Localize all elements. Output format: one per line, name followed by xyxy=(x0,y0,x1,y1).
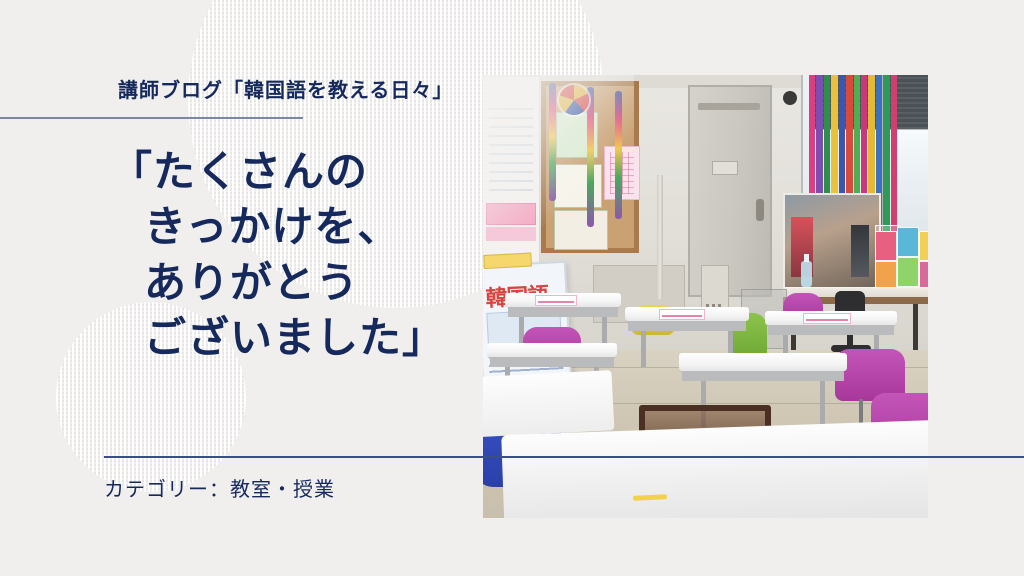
category-label: カテゴリー：教室・授業 xyxy=(104,473,335,502)
desk-top xyxy=(679,353,847,371)
travel-poster xyxy=(783,193,881,293)
sign-tab xyxy=(483,253,532,269)
blog-banner: 韓国語 xyxy=(0,0,1024,576)
door-handle xyxy=(756,199,764,221)
magazine xyxy=(897,227,919,257)
desk-leg xyxy=(820,381,825,427)
desk-leg xyxy=(641,331,646,367)
hand-sanitizer xyxy=(801,261,812,287)
norigae-tassel xyxy=(587,87,594,227)
korean-fan-ornament xyxy=(559,85,589,115)
poster-highlight xyxy=(486,227,536,241)
headline-line-2: きっかけを、 xyxy=(110,199,490,254)
divider-bottom xyxy=(104,456,1024,458)
desk-name-sign xyxy=(659,309,705,320)
desk-apron xyxy=(682,371,844,381)
bulletin-note xyxy=(554,164,602,208)
table-leg xyxy=(913,304,918,350)
desk-name-sign xyxy=(803,313,851,324)
desk-top xyxy=(487,343,617,357)
desk-name-sign xyxy=(535,295,577,306)
page-title: 「たくさんの きっかけを、 ありがとう ございました」 xyxy=(110,144,490,366)
magazine xyxy=(919,231,928,261)
headline-line-3: ありがとう xyxy=(110,255,490,310)
headline-line-1: 「たくさんの xyxy=(110,144,490,199)
door-plate xyxy=(712,161,738,175)
headline-line-4: ございました」 xyxy=(110,310,490,365)
bulletin-calendar xyxy=(604,146,640,200)
wall-poster xyxy=(483,77,540,265)
magazine xyxy=(897,257,919,287)
desk-apron xyxy=(490,357,614,367)
student-desk-foreground xyxy=(501,419,928,518)
blog-series-label: 講師ブログ「韓国語を教える日々」 xyxy=(118,74,453,103)
poster-text-lines xyxy=(489,105,533,191)
wall-pipe xyxy=(657,175,663,299)
divider-top xyxy=(0,117,303,119)
student-desk xyxy=(483,370,614,440)
desk-apron xyxy=(508,307,618,317)
desk-apron xyxy=(628,321,746,331)
security-camera-icon xyxy=(783,91,797,105)
desk-apron xyxy=(768,325,894,335)
poster-highlight xyxy=(486,203,536,225)
magazine xyxy=(875,231,897,261)
door-closer xyxy=(698,103,760,110)
bulletin-note xyxy=(554,210,608,250)
norigae-tassel xyxy=(615,91,622,219)
norigae-tassel xyxy=(549,83,556,201)
classroom-photo: 韓国語 xyxy=(483,75,928,518)
photo-scene: 韓国語 xyxy=(483,75,928,518)
